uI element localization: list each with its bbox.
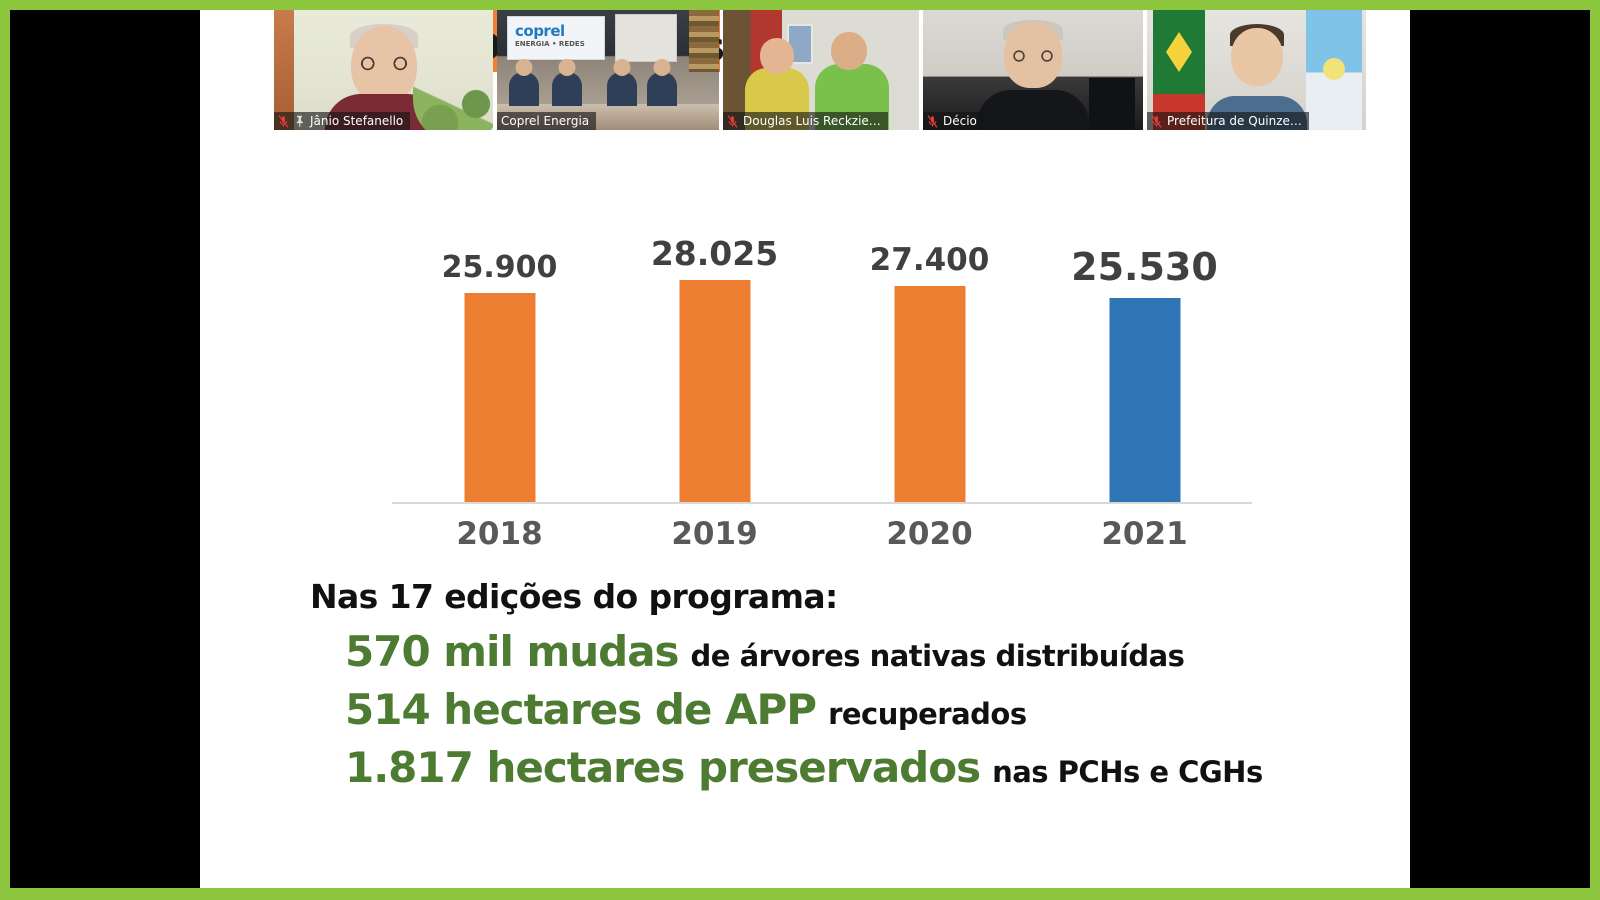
bar-value-label: 25.900 — [442, 253, 558, 283]
stat-highlight: 570 mil mudas — [345, 629, 679, 675]
stat-description: recuperados — [828, 699, 1027, 731]
bar-value-label: 28.025 — [651, 237, 778, 270]
tile-name-badge: Douglas Luis Reckzie… — [723, 112, 888, 130]
bar-group-2018: 25.900 — [392, 200, 607, 502]
shared-screen-slide: Mudas Distribuídas 25.900 28.025 — [200, 10, 1410, 888]
tile-name-label: Douglas Luis Reckzie… — [743, 114, 881, 128]
slide-summary: Nas 17 edições do programa: 570 mil muda… — [200, 578, 1410, 792]
video-tile-prefeitura-de-quinze[interactable]: Prefeitura de Quinze… — [1147, 10, 1366, 130]
stat-row-app: 514 hectares de APP recuperados — [345, 687, 1410, 733]
video-tile-decio[interactable]: Décio — [923, 10, 1143, 130]
mic-off-icon — [278, 115, 289, 128]
bar-2021 — [1109, 298, 1180, 502]
tile-name-badge: Coprel Energia — [497, 112, 596, 130]
video-tile-janio-stefanello[interactable]: Jânio Stefanello — [274, 10, 493, 130]
tile-name-badge: Jânio Stefanello — [274, 112, 410, 130]
x-tick-2018: 2018 — [392, 516, 607, 552]
pin-icon — [294, 115, 305, 127]
screen-root: Mudas Distribuídas 25.900 28.025 — [0, 0, 1600, 900]
bar-group-2019: 28.025 — [607, 200, 822, 502]
stat-description: de árvores nativas distribuídas — [691, 641, 1185, 673]
tile-name-label: Prefeitura de Quinze… — [1167, 114, 1302, 128]
summary-lead: Nas 17 edições do programa: — [310, 578, 1410, 617]
bar-value-label: 27.400 — [870, 245, 990, 276]
stat-row-preservados: 1.817 hectares preservados nas PCHs e CG… — [345, 745, 1410, 791]
stat-description: nas PCHs e CGHs — [992, 757, 1263, 789]
mic-off-icon — [927, 115, 938, 128]
bar-2020 — [894, 286, 965, 502]
mic-off-icon — [1151, 115, 1162, 128]
mic-off-icon — [727, 115, 738, 128]
bar-2018 — [464, 293, 535, 502]
bar-2019 — [679, 280, 750, 502]
participant-filmstrip[interactable]: Jânio Stefanello coprelENERGIA • REDES C… — [274, 10, 1366, 130]
zoom-stage: Mudas Distribuídas 25.900 28.025 — [10, 10, 1590, 888]
bar-value-label: 25.530 — [1071, 248, 1218, 286]
x-tick-2020: 2020 — [822, 516, 1037, 552]
video-tile-douglas-luis-reckziegel[interactable]: Douglas Luis Reckzie… — [723, 10, 919, 130]
tile-name-label: Décio — [943, 114, 977, 128]
tile-name-label: Coprel Energia — [501, 114, 589, 128]
bar-group-2021: 25.530 — [1037, 200, 1252, 502]
stat-highlight: 514 hectares de APP — [345, 687, 816, 733]
tile-name-label: Jânio Stefanello — [310, 114, 403, 128]
tile-name-badge: Prefeitura de Quinze… — [1147, 112, 1309, 130]
tile-name-badge: Décio — [923, 112, 984, 130]
stat-row-mudas: 570 mil mudas de árvores nativas distrib… — [345, 629, 1410, 675]
chart-plot-area: 25.900 28.025 27.400 25 — [392, 200, 1252, 510]
video-tile-coprel-energia[interactable]: coprelENERGIA • REDES Coprel Energia — [497, 10, 719, 130]
stat-highlight: 1.817 hectares preservados — [345, 745, 980, 791]
bar-group-2020: 27.400 — [822, 200, 1037, 502]
bar-chart: 25.900 28.025 27.400 25 — [200, 200, 1410, 570]
x-tick-2021: 2021 — [1037, 516, 1252, 552]
x-tick-2019: 2019 — [607, 516, 822, 552]
